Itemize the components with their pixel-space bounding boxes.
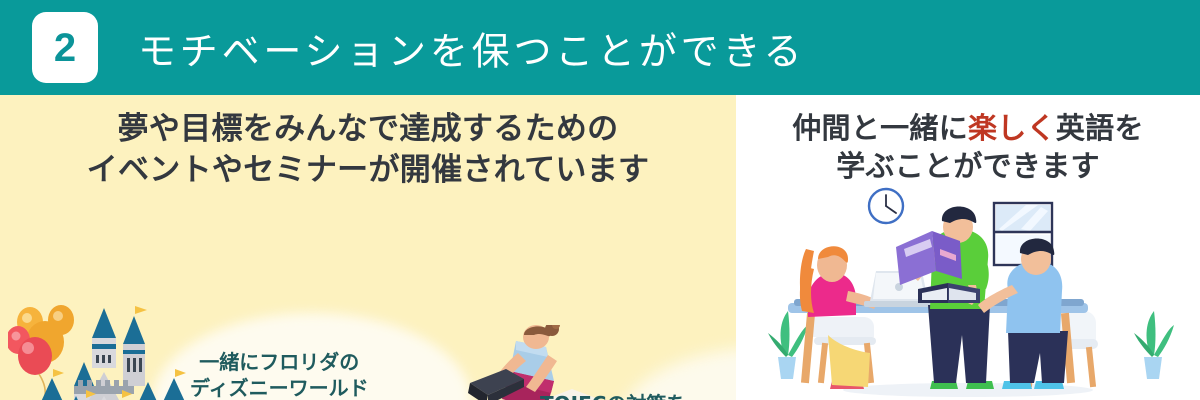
left-heading-line-1: 夢や目標をみんなで達成するための <box>0 109 736 150</box>
step-number-badge: 2 <box>32 12 98 83</box>
classroom-illustration <box>736 185 1200 400</box>
right-panel: 仲間と一緒に楽しく英語を 学ぶことができます <box>736 95 1200 400</box>
right-panel-heading: 仲間と一緒に楽しく英語を 学ぶことができます <box>736 109 1200 186</box>
right-heading-line-1: 仲間と一緒に楽しく英語を <box>736 109 1200 147</box>
left-panel-heading: 夢や目標をみんなで達成するための イベントやセミナーが開催されています <box>0 109 736 191</box>
woman-on-books-illustration <box>440 325 670 400</box>
banner-header: 2 モチベーションを保つことができる <box>0 0 1200 95</box>
right-heading-post: 英語を <box>1056 111 1144 145</box>
page-title: モチベーションを保つことができる <box>138 20 805 75</box>
mouse-ear-balloons-icon <box>8 305 74 400</box>
speech-bubble-toeic-text: TOIECの対策を 一緒にしよう！ <box>540 392 686 400</box>
speech-bubble-disney-text: 一緒にフロリダの ディズニーワールド に行こう！！！ <box>190 350 369 400</box>
promo-banner: 2 モチベーションを保つことができる 夢や目標をみんなで達成するための イベント… <box>0 0 1200 400</box>
seated-student-figure <box>978 238 1068 389</box>
wall-clock-icon <box>869 189 903 223</box>
step-number-text: 2 <box>54 28 76 68</box>
woman-figure <box>468 325 560 400</box>
potted-plant-left <box>768 311 808 379</box>
right-heading-line-2: 学ぶことができます <box>736 147 1200 185</box>
right-heading-highlight: 楽しく <box>968 111 1056 145</box>
potted-plant-right <box>1134 311 1174 379</box>
castle-illustration <box>8 300 188 400</box>
left-panel: 夢や目標をみんなで達成するための イベントやセミナーが開催されています <box>0 95 736 400</box>
left-heading-line-2: イベントやセミナーが開催されています <box>0 150 736 191</box>
right-heading-pre: 仲間と一緒に <box>792 111 968 145</box>
